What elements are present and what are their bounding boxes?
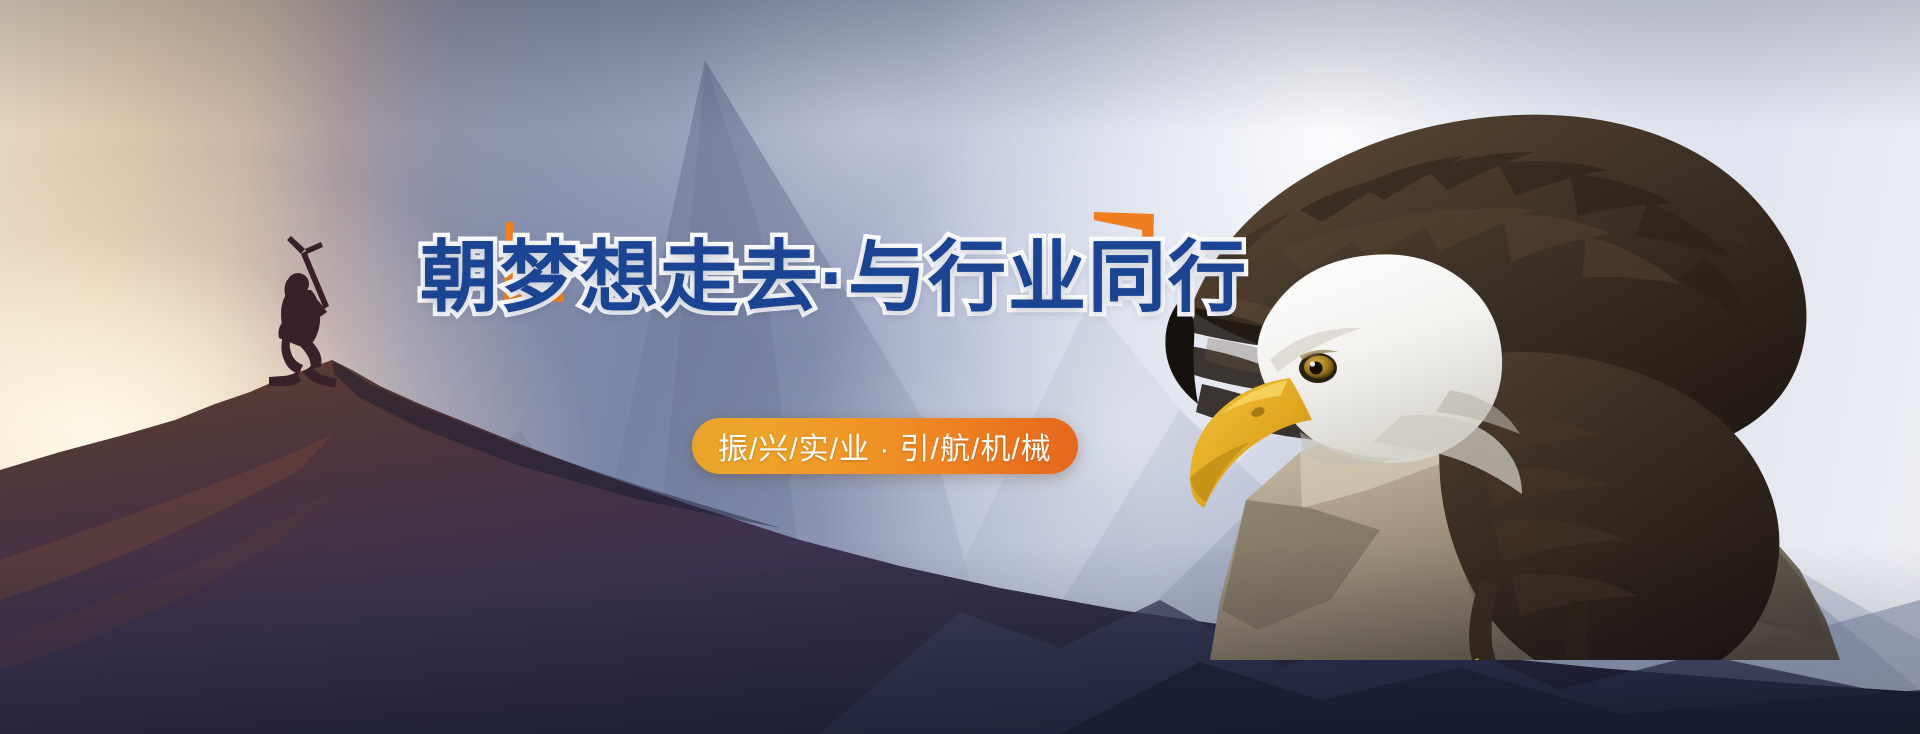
banner-subtitle-text: 振/兴/实/业 · 引/航/机/械	[718, 424, 1052, 468]
banner-headline: 朝梦想走去·与行业同行	[420, 238, 1160, 316]
banner-copy: 朝梦想走去·与行业同行 朝梦想走去·与行业同行 振/兴/实/业 · 引/航/机/…	[0, 0, 1920, 734]
banner-subtitle-pill: 振/兴/实/业 · 引/航/机/械	[692, 418, 1078, 474]
hero-banner: 朝梦想走去·与行业同行 朝梦想走去·与行业同行 振/兴/实/业 · 引/航/机/…	[0, 0, 1920, 734]
